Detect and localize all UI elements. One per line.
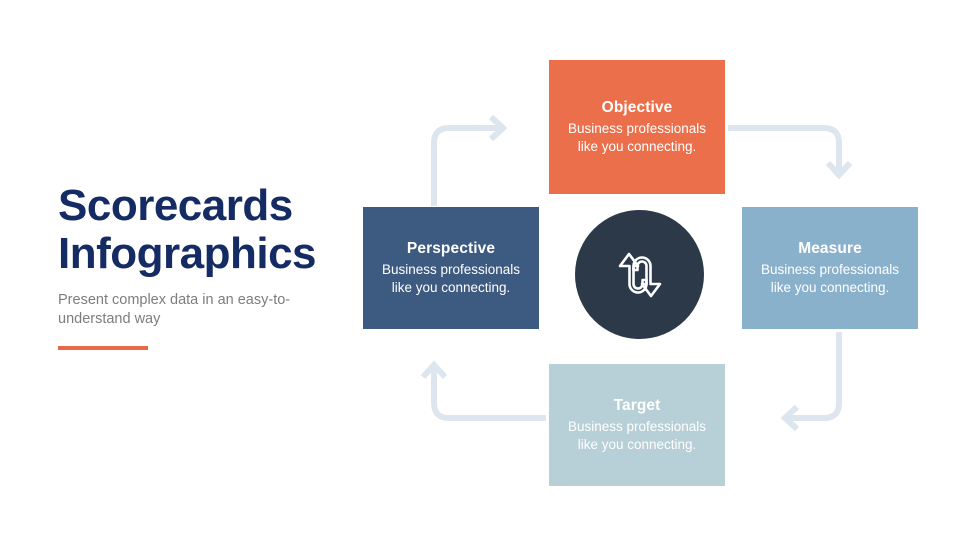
node-target-description: Business professionals like you connecti… (568, 418, 706, 453)
node-perspective-title: Perspective (407, 240, 495, 258)
node-measure[interactable]: Measure Business professionals like you … (742, 207, 918, 329)
arrow-objective-to-measure (728, 128, 850, 175)
arrow-measure-to-target (785, 332, 839, 429)
node-objective-title: Objective (602, 99, 673, 117)
cycle-diagram: .arw { fill: none; stroke: #dde5ee; stro… (0, 0, 980, 551)
node-target-title: Target (614, 397, 661, 415)
node-measure-title: Measure (798, 240, 862, 258)
node-objective-description: Business professionals like you connecti… (568, 120, 706, 155)
node-target[interactable]: Target Business professionals like you c… (549, 364, 725, 486)
arrow-perspective-to-objective (434, 117, 503, 206)
node-perspective-description: Business professionals like you connecti… (382, 261, 520, 296)
node-objective[interactable]: Objective Business professionals like yo… (549, 60, 725, 194)
up-down-arrows-icon (610, 244, 670, 306)
center-hub[interactable] (575, 210, 704, 339)
slide-canvas: Scorecards Infographics Present complex … (0, 0, 980, 551)
node-measure-description: Business professionals like you connecti… (761, 261, 899, 296)
arrow-target-to-perspective (423, 365, 546, 418)
node-perspective[interactable]: Perspective Business professionals like … (363, 207, 539, 329)
